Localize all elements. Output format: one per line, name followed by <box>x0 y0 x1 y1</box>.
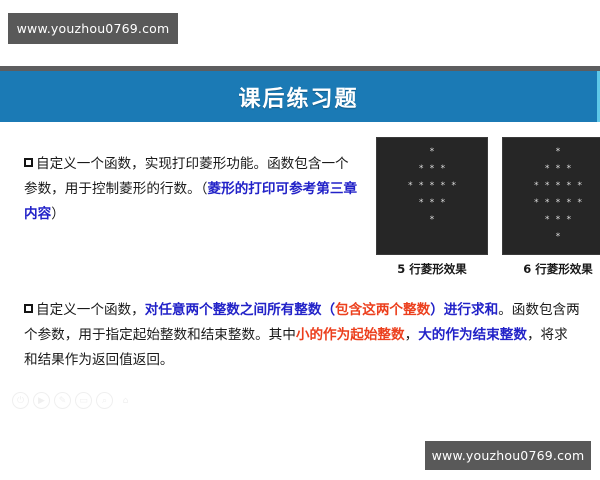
bullet-marker-icon <box>24 158 33 167</box>
home-icon: ⌂ <box>117 392 134 409</box>
bullet-2-segment-0: 自定义一个函数， <box>36 302 145 318</box>
zoom-icon: ⌕ <box>96 392 113 409</box>
screen-icon: ▭ <box>75 392 92 409</box>
watermark-bottom: www.youzhou0769.com <box>425 441 591 470</box>
bullet-1-segment-2: ） <box>51 206 65 222</box>
page-title: 课后练习题 <box>0 71 597 122</box>
bullet-2-segment-1: 对任意两个整数之间所有整数（ <box>145 302 335 318</box>
bullet-2-segment-7: 大的作为结束整数 <box>418 327 527 343</box>
pen-icon: ✎ <box>54 392 71 409</box>
slide-canvas: www.youzhou0769.com 课后练习题 自定义一个函数，实现打印菱形… <box>0 0 600 480</box>
power-icon: ⏻ <box>12 392 29 409</box>
bullet-2-segment-2: 包含这两个整数 <box>335 302 430 318</box>
bullet-marker-icon <box>24 304 33 313</box>
bullet-2-segment-5: 小的作为起始整数 <box>296 327 405 343</box>
diamond-figures-group: * * * * * * * * * * * * * 5 行菱形效果 * * * … <box>376 137 596 285</box>
diamond-caption-6: 6 行菱形效果 <box>502 261 600 277</box>
play-icon: ▶ <box>33 392 50 409</box>
diamond-figure-6-rows: * * * * * * * * * * * * * * * * * * <box>502 137 600 255</box>
faint-toolbar-icons: ⏻ ▶ ✎ ▭ ⌕ ⌂ <box>12 392 134 409</box>
watermark-top: www.youzhou0769.com <box>8 13 178 44</box>
diamond-pattern-6: * * * * * * * * * * * * * * * * * * <box>503 138 600 246</box>
bullet-2-segment-3: ）进行求和 <box>430 302 498 318</box>
bullet-item-2: 自定义一个函数，对任意两个整数之间所有整数（包含这两个整数）进行求和。函数包含两… <box>24 298 580 373</box>
diamond-pattern-5: * * * * * * * * * * * * * <box>377 138 487 229</box>
diamond-figure-5-rows: * * * * * * * * * * * * * <box>376 137 488 255</box>
diamond-caption-5: 5 行菱形效果 <box>376 261 488 277</box>
bullet-2-segment-6: ， <box>405 327 419 343</box>
bullet-item-1: 自定义一个函数，实现打印菱形功能。函数包含一个参数，用于控制菱形的行数。（菱形的… <box>24 152 359 227</box>
